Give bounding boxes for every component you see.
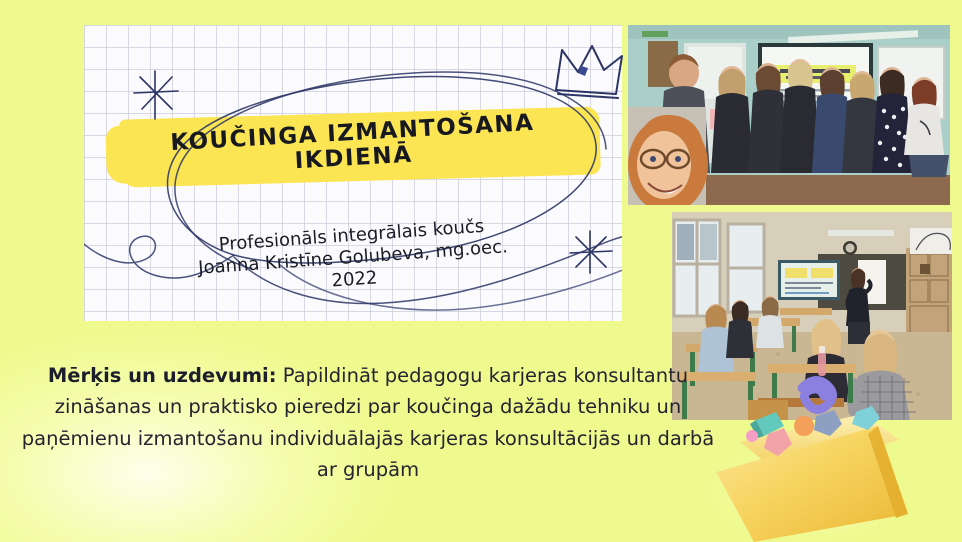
3d-folder-graphic xyxy=(700,386,962,542)
group-photo-image xyxy=(628,25,950,205)
caption-lead: Mērķis un uzdevumi: xyxy=(48,364,277,387)
sparkle-doodle-left xyxy=(134,71,178,119)
grid-paper-card: KOUČINGA IZMANTOŠANA IKDIENĀ Profesionāl… xyxy=(84,25,622,321)
objectives-caption: Mērķis un uzdevumi: Papildināt pedagogu … xyxy=(18,360,718,486)
presentation-slide: KOUČINGA IZMANTOŠANA IKDIENĀ Profesionāl… xyxy=(0,0,962,542)
crown-doodle xyxy=(548,38,632,110)
group-photo xyxy=(628,25,950,205)
